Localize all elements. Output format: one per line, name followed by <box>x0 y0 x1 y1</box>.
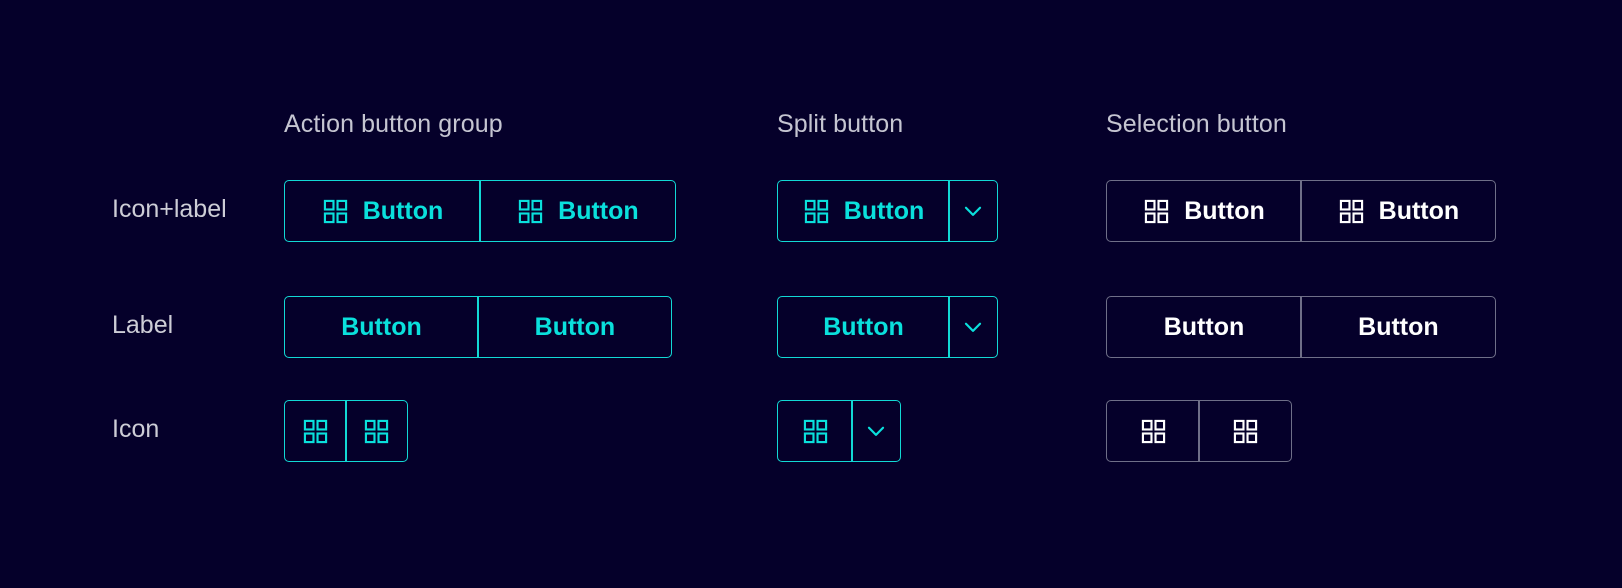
grid-icon <box>803 198 830 225</box>
column-header-selection-button: Selection button <box>1106 112 1287 137</box>
selection-button-icon-label: Button Button <box>1106 180 1496 242</box>
selection-button-icon-label-2[interactable]: Button <box>1300 180 1496 242</box>
selection-button-label: Button Button <box>1106 296 1496 358</box>
grid-icon <box>517 198 544 225</box>
selection-button-icon-1[interactable] <box>1106 400 1200 462</box>
grid-icon <box>1143 198 1170 225</box>
split-button-toggle-icon[interactable] <box>851 400 901 462</box>
button-label: Button <box>823 315 904 340</box>
column-header-action-button-group: Action button group <box>284 112 503 137</box>
button-label: Button <box>535 315 616 340</box>
action-button-group-label: Button Button <box>284 296 672 358</box>
chevron-down-icon <box>863 418 889 444</box>
column-header-split-button: Split button <box>777 112 903 137</box>
action-button-icon-1[interactable] <box>284 400 347 462</box>
selection-button-icon-2[interactable] <box>1198 400 1292 462</box>
action-button-label-1[interactable]: Button <box>284 296 479 358</box>
button-specimen-canvas: Action button group Split button Selecti… <box>0 0 1622 588</box>
grid-icon <box>1140 418 1167 445</box>
selection-button-icon-label-1[interactable]: Button <box>1106 180 1302 242</box>
grid-icon <box>363 418 390 445</box>
row-label-label: Label <box>112 313 173 338</box>
selection-button-icon <box>1106 400 1292 462</box>
row-label-icon: Icon <box>112 417 159 442</box>
chevron-down-icon <box>960 314 986 340</box>
button-label: Button <box>1184 199 1265 224</box>
split-button-icon-label: Button <box>777 180 998 242</box>
button-label: Button <box>1164 315 1245 340</box>
split-button-label: Button <box>777 296 998 358</box>
grid-icon <box>802 418 829 445</box>
split-button-primary-icon-label[interactable]: Button <box>777 180 950 242</box>
action-button-icon-label-1[interactable]: Button <box>284 180 481 242</box>
button-label: Button <box>341 315 422 340</box>
action-button-group-icon-label: Button Button <box>284 180 676 242</box>
action-button-label-2[interactable]: Button <box>477 296 672 358</box>
button-label: Button <box>1358 315 1439 340</box>
grid-icon <box>1338 198 1365 225</box>
action-button-icon-2[interactable] <box>345 400 408 462</box>
button-label: Button <box>1379 199 1460 224</box>
split-button-primary-icon[interactable] <box>777 400 853 462</box>
button-label: Button <box>363 199 444 224</box>
split-button-primary-label[interactable]: Button <box>777 296 950 358</box>
button-label: Button <box>844 199 925 224</box>
split-button-toggle-label[interactable] <box>948 296 998 358</box>
selection-button-label-1[interactable]: Button <box>1106 296 1302 358</box>
action-button-icon-label-2[interactable]: Button <box>479 180 676 242</box>
selection-button-label-2[interactable]: Button <box>1300 296 1496 358</box>
grid-icon <box>322 198 349 225</box>
split-button-icon <box>777 400 901 462</box>
chevron-down-icon <box>960 198 986 224</box>
grid-icon <box>302 418 329 445</box>
button-label: Button <box>558 199 639 224</box>
grid-icon <box>1232 418 1259 445</box>
row-label-icon-label: Icon+label <box>112 197 227 222</box>
action-button-group-icon <box>284 400 408 462</box>
split-button-toggle-icon-label[interactable] <box>948 180 998 242</box>
